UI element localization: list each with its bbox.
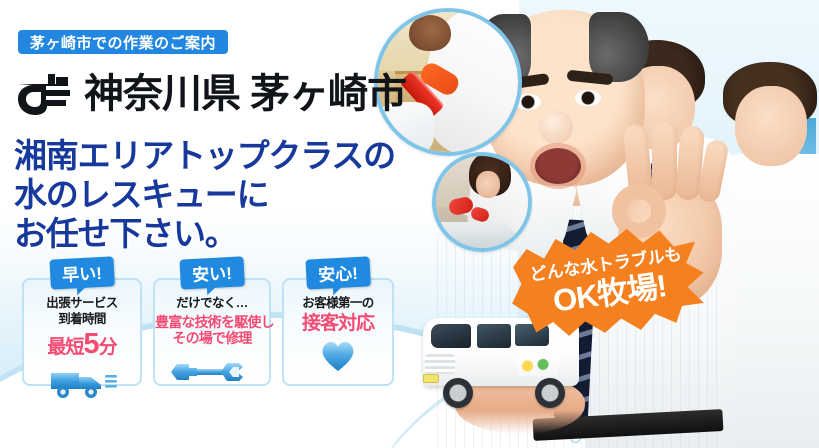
prefecture-city-name: 神奈川県 茅ヶ崎市 [84, 74, 406, 114]
main-prefix: 最短 [47, 337, 83, 358]
finger [652, 120, 677, 200]
feature-card-service-sub-1: お客様第一の [284, 296, 392, 312]
prefecture-row: 神奈川県 茅ヶ崎市 [16, 72, 406, 116]
van-logo-decal [517, 356, 559, 376]
staff-main-nose [539, 110, 573, 144]
kanagawa-prefecture-emblem-icon [16, 72, 74, 116]
feature-card-speed-tag: 早い! [49, 256, 114, 289]
headline: 湘南エリアトップクラスの 水のレスキューに お任せ下さい。 [14, 137, 395, 254]
skill-main-2: その場で修理 [155, 330, 269, 347]
van-wheel [535, 378, 565, 408]
heart-icon [284, 337, 392, 373]
photo-worker-face [476, 171, 500, 199]
photo-sink-repair [432, 152, 532, 252]
feature-card-service-tag: 安心! [305, 256, 370, 289]
headline-line-3: お任せ下さい。 [14, 215, 395, 254]
wrench-icon [155, 350, 269, 386]
van-license-plate [423, 374, 439, 383]
feature-card-speed-sub-1: 出張サービス [24, 296, 140, 312]
feature-card-speed-sub-2: 到着時間 [24, 312, 140, 328]
feature-card-skill-tag: 安い! [179, 256, 244, 289]
staff-main-mouth [535, 148, 581, 184]
staff-main-eye-right [575, 90, 601, 106]
feature-card-speed: 早い! 出張サービス 到着時間 最短5分 [22, 278, 142, 386]
headline-line-2: 水のレスキューに [14, 176, 395, 215]
feature-card-service-main: 接客対応 [284, 314, 392, 334]
promo-banner: どんな水トラブルも OK牧場! 茅ヶ崎市での作業のご案内 神奈川県 茅ヶ崎市 湘… [0, 0, 819, 448]
feature-card-service: 安心! お客様第一の 接客対応 [282, 278, 394, 386]
feature-card-speed-main: 最短5分 [24, 329, 140, 359]
photo-worker-head [409, 15, 451, 51]
city-badge: 茅ヶ崎市での作業のご案内 [18, 30, 228, 54]
delivery-truck-icon [24, 363, 140, 399]
feature-card-skill-main: 豊富な技術を駆使し その場で修理 [155, 314, 269, 348]
feature-card-skill-sub: だけでなく… [155, 296, 269, 312]
main-number: 5 [83, 328, 98, 360]
van-window-front [477, 324, 511, 348]
feature-card-speed-sub: 出張サービス 到着時間 [24, 296, 140, 327]
van-windshield [431, 324, 471, 348]
feature-card-skill-sub-1: だけでなく… [155, 296, 269, 312]
feature-cards: 早い! 出張サービス 到着時間 最短5分 [22, 278, 394, 386]
headline-line-1: 湘南エリアトップクラスの [14, 137, 395, 176]
van-wheel [443, 378, 473, 408]
staff-main-hair-right [589, 12, 649, 82]
feature-card-service-sub: お客様第一の [284, 296, 392, 312]
main-suffix: 分 [99, 337, 117, 358]
van-grille [425, 354, 455, 374]
skill-main-1: 豊富な技術を駆使し [155, 314, 269, 331]
feature-card-skill: 安い! だけでなく… 豊富な技術を駆使し その場で修理 [153, 278, 271, 386]
